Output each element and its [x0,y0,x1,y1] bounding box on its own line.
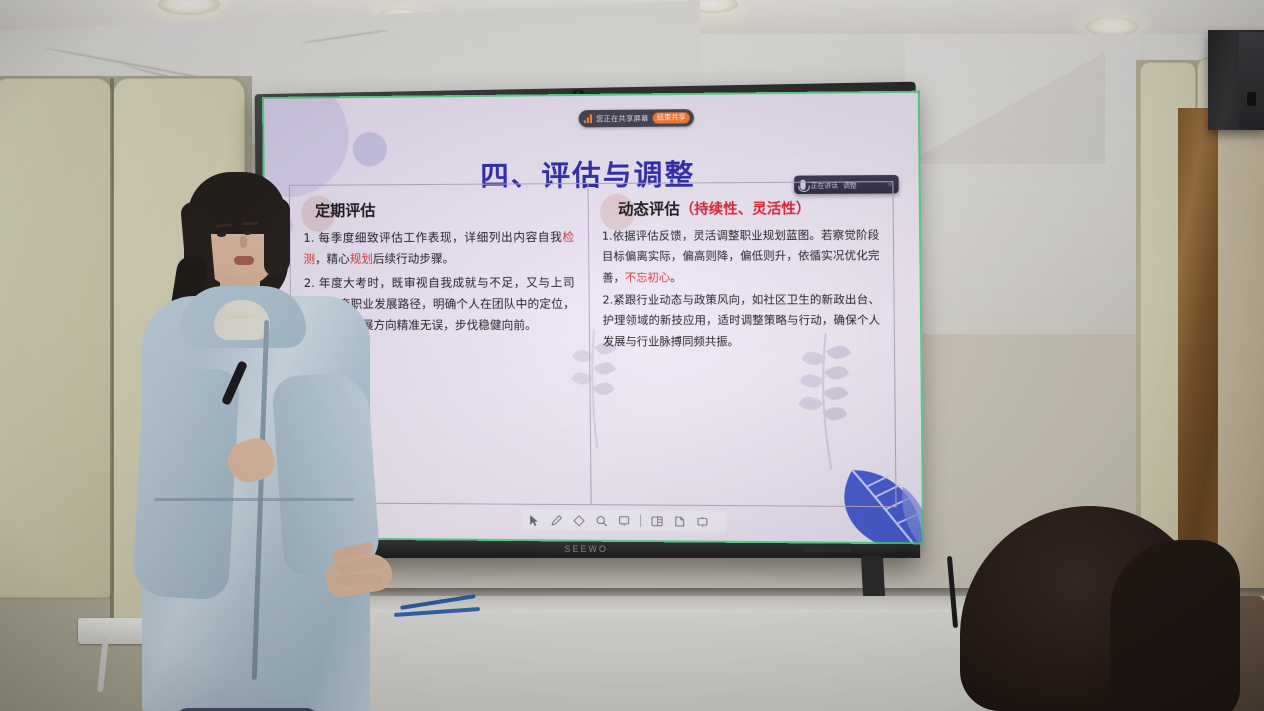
stop-share-button[interactable]: 结束共享 [653,112,690,124]
screenshot-icon[interactable] [696,515,710,528]
panel-heading-text: 动态评估 [618,200,680,219]
presenter-hair-side [264,198,290,276]
panel-seam [110,78,114,626]
speaker-port-icon [1247,92,1256,106]
share-status-text: 您正在共享屏幕 [596,113,649,124]
toolbar-divider [640,515,641,527]
display-badge [804,544,851,552]
slide-annotation-toolbar[interactable] [521,510,727,532]
presenter-eye [243,230,252,235]
presenter-eye [217,232,226,237]
signal-bars-icon [584,114,592,123]
audience-member [960,506,1264,711]
audience-hair-side [1110,540,1240,711]
speaker-face [1239,32,1264,128]
panel-paragraph: 1.依据评估反馈，灵活调整职业规划蓝图。若察觉阶段目标偏离实际，偏高则降，偏低则… [602,225,880,288]
panel-heading-paren: （持续性、灵活性） [680,201,811,218]
screenshot-root: SEEWO [0,0,1264,711]
magnifier-icon[interactable] [595,514,608,527]
display-brand-logo: SEEWO [554,542,618,556]
presenter-nose [240,236,247,248]
presenter-mouth [234,256,254,265]
cursor-icon[interactable] [527,513,540,526]
screen-share-banner[interactable]: 您正在共享屏幕 结束共享 [579,109,694,127]
display-stand-right [861,556,885,596]
slide-list-icon[interactable] [650,514,664,527]
panel-heading: 动态评估（持续性、灵活性） [618,197,879,220]
presenter-eyebrow [242,222,258,226]
presenter-pocket-seam [154,498,354,501]
panel-paragraph: 2.紧跟行业动态与政策风向，如社区卫生的新政出台、护理领域的新技应用，适时调整策… [602,290,880,353]
eraser-icon[interactable] [572,514,585,527]
highlight-text: 不忘初心 [625,271,670,284]
stamp-icon[interactable] [617,514,630,527]
presenter [136,168,386,711]
wall-pad [0,78,112,598]
pen-icon[interactable] [550,514,563,527]
panel-dynamic-evaluation: 动态评估（持续性、灵活性） 1.依据评估反馈，灵活调整职业规划蓝图。若察觉阶段目… [588,182,895,506]
presenter-finger [336,573,382,586]
export-icon[interactable] [673,514,687,527]
